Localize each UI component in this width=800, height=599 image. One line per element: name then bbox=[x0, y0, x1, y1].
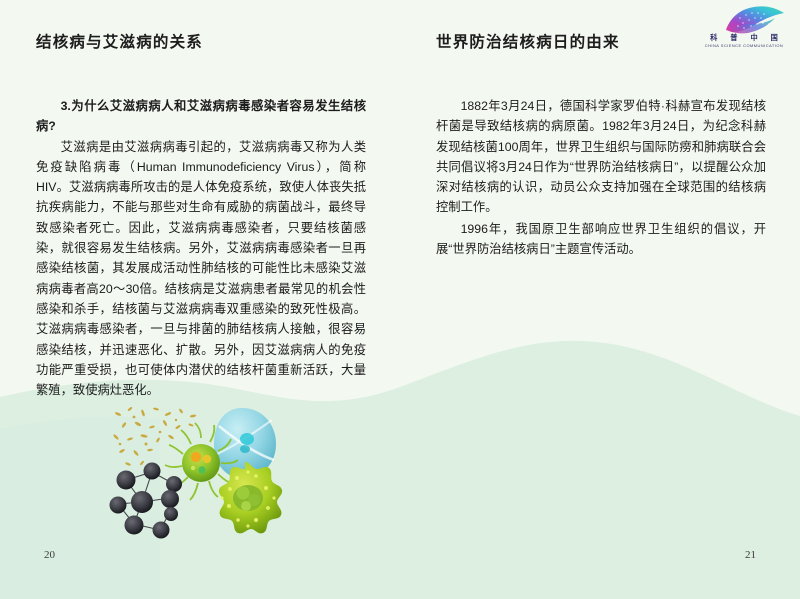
left-page: 结核病与艾滋病的关系 3.为什么艾滋病病人和艾滋病病毒感染者容易发生结核病? 艾… bbox=[0, 0, 400, 599]
right-page-heading: 世界防治结核病日的由来 bbox=[436, 30, 620, 52]
logo-swoosh-icon bbox=[696, 6, 792, 36]
germs-illustration bbox=[96, 400, 326, 550]
logo-english-name: CHINA SCIENCE COMMUNICATION bbox=[695, 43, 793, 48]
right-page-body: 1882年3月24日，德国科学家罗伯特·科赫宣布发现结核杆菌是导致结核病的病原菌… bbox=[436, 96, 766, 260]
bacteria-cluster-icon bbox=[110, 463, 183, 539]
paragraph-body: 1882年3月24日，德国科学家罗伯特·科赫宣布发现结核杆菌是导致结核病的病原菌… bbox=[436, 96, 766, 218]
kepu-china-logo: 科 普 中 国 CHINA SCIENCE COMMUNICATION bbox=[696, 6, 792, 52]
book-spread-page: 结核病与艾滋病的关系 3.为什么艾滋病病人和艾滋病病毒感染者容易发生结核病? 艾… bbox=[0, 0, 800, 599]
left-page-number: 20 bbox=[44, 549, 55, 561]
left-page-heading: 结核病与艾滋病的关系 bbox=[36, 30, 203, 52]
question-title: 3.为什么艾滋病病人和艾滋病病毒感染者容易发生结核病? bbox=[36, 96, 366, 137]
left-page-body: 3.为什么艾滋病病人和艾滋病病毒感染者容易发生结核病? 艾滋病是由艾滋病病毒引起… bbox=[36, 96, 366, 401]
right-page-number: 21 bbox=[745, 549, 756, 561]
paragraph-body: 1996年，我国原卫生部响应世界卫生组织的倡议，开展“世界防治结核病日”主题宣传… bbox=[436, 219, 766, 260]
two-page-spread: 结核病与艾滋病的关系 3.为什么艾滋病病人和艾滋病病毒感染者容易发生结核病? 艾… bbox=[0, 0, 800, 599]
logo-chinese-name: 科 普 中 国 bbox=[696, 33, 792, 43]
right-page: 世界防治结核病日的由来 bbox=[400, 0, 800, 599]
paragraph-body: 艾滋病是由艾滋病病毒引起的，艾滋病病毒又称为人类免疫缺陷病毒（Human Imm… bbox=[36, 137, 366, 401]
